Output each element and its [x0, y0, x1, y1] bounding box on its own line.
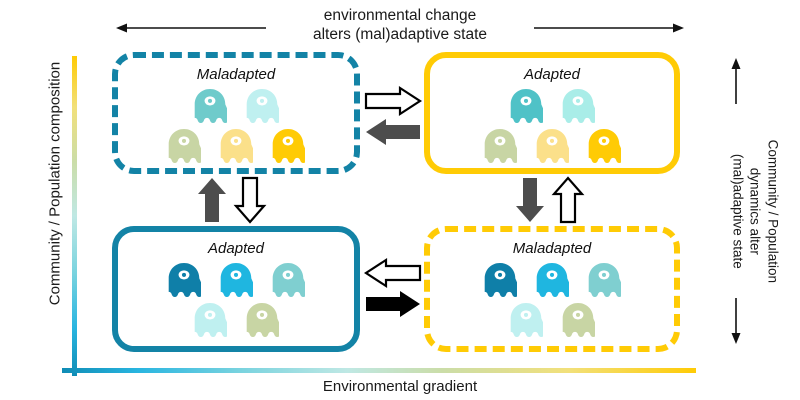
transition-arrow-filled-left-icon: [364, 118, 422, 146]
ghost-row: [430, 262, 674, 298]
organism-ghost-icon: [245, 302, 279, 338]
header-arrow-left-icon: [116, 22, 266, 34]
quadrant-top-left[interactable]: Maladapted: [112, 52, 360, 174]
transition-arrow-outline-left-icon: [364, 258, 422, 288]
quadrant-bottom-left[interactable]: Adapted: [112, 226, 360, 352]
transition-arrow-outline-down-icon: [234, 176, 266, 224]
organism-ghost-icon: [509, 88, 543, 124]
header-arrow-right-icon: [534, 22, 684, 34]
organism-ghost-icon: [535, 128, 569, 164]
organism-ghost-icon: [167, 128, 201, 164]
right-annotation: Community / Population dynamics alter (m…: [729, 96, 782, 326]
organism-ghost-icon: [535, 262, 569, 298]
organism-ghost-icon: [193, 88, 227, 124]
ghost-row: [118, 88, 354, 124]
organism-ghost-icon: [483, 128, 517, 164]
organism-ghost-icon: [483, 262, 517, 298]
organism-ghost-icon: [219, 262, 253, 298]
header-line-1: environmental change: [270, 6, 530, 25]
organism-ghost-icon: [193, 302, 227, 338]
quadrant-title: Adapted: [118, 240, 354, 257]
right-arrow-down-icon: [730, 298, 742, 344]
x-axis-label: Environmental gradient: [240, 378, 560, 395]
right-arrow-up-icon: [730, 58, 742, 104]
header-line-2: alters (mal)adaptive state: [270, 25, 530, 44]
header-caption: environmental change alters (mal)adaptiv…: [270, 6, 530, 45]
quadrant-bottom-right[interactable]: Maladapted: [424, 226, 680, 352]
right-annotation-line-3: (mal)adaptive state: [729, 96, 747, 326]
organism-ghost-icon: [587, 262, 621, 298]
organism-ghost-icon: [561, 302, 595, 338]
transition-arrow-outline-up-icon: [552, 176, 584, 224]
organism-ghost-icon: [271, 128, 305, 164]
ghost-group: [430, 88, 674, 164]
ghost-group: [118, 262, 354, 338]
ghost-row: [430, 88, 674, 124]
ghost-row: [118, 262, 354, 298]
ghost-row: [118, 128, 354, 164]
organism-ghost-icon: [271, 262, 305, 298]
right-annotation-line-1: Community / Population: [764, 96, 782, 326]
quadrant-title: Maladapted: [430, 240, 674, 257]
ghost-row: [430, 302, 674, 338]
diagram-canvas: environmental change alters (mal)adaptiv…: [0, 0, 800, 400]
ghost-group: [430, 262, 674, 338]
ghost-group: [118, 88, 354, 164]
y-axis-label: Community / Population composition: [47, 34, 64, 334]
ghost-row: [430, 128, 674, 164]
x-axis-gradient: [62, 368, 696, 373]
ghost-row: [118, 302, 354, 338]
transition-arrow-filled-right-icon: [364, 290, 422, 318]
organism-ghost-icon: [561, 88, 595, 124]
quadrant-title: Maladapted: [118, 66, 354, 83]
organism-ghost-icon: [219, 128, 253, 164]
organism-ghost-icon: [245, 88, 279, 124]
y-axis-gradient: [72, 56, 77, 376]
organism-ghost-icon: [587, 128, 621, 164]
quadrant-top-right[interactable]: Adapted: [424, 52, 680, 174]
transition-arrow-filled-down-icon: [514, 176, 546, 224]
right-annotation-line-2: dynamics alter: [746, 96, 764, 326]
organism-ghost-icon: [509, 302, 543, 338]
transition-arrow-outline-right-icon: [364, 86, 422, 116]
quadrant-title: Adapted: [430, 66, 674, 83]
transition-arrow-filled-up-icon: [196, 176, 228, 224]
organism-ghost-icon: [167, 262, 201, 298]
